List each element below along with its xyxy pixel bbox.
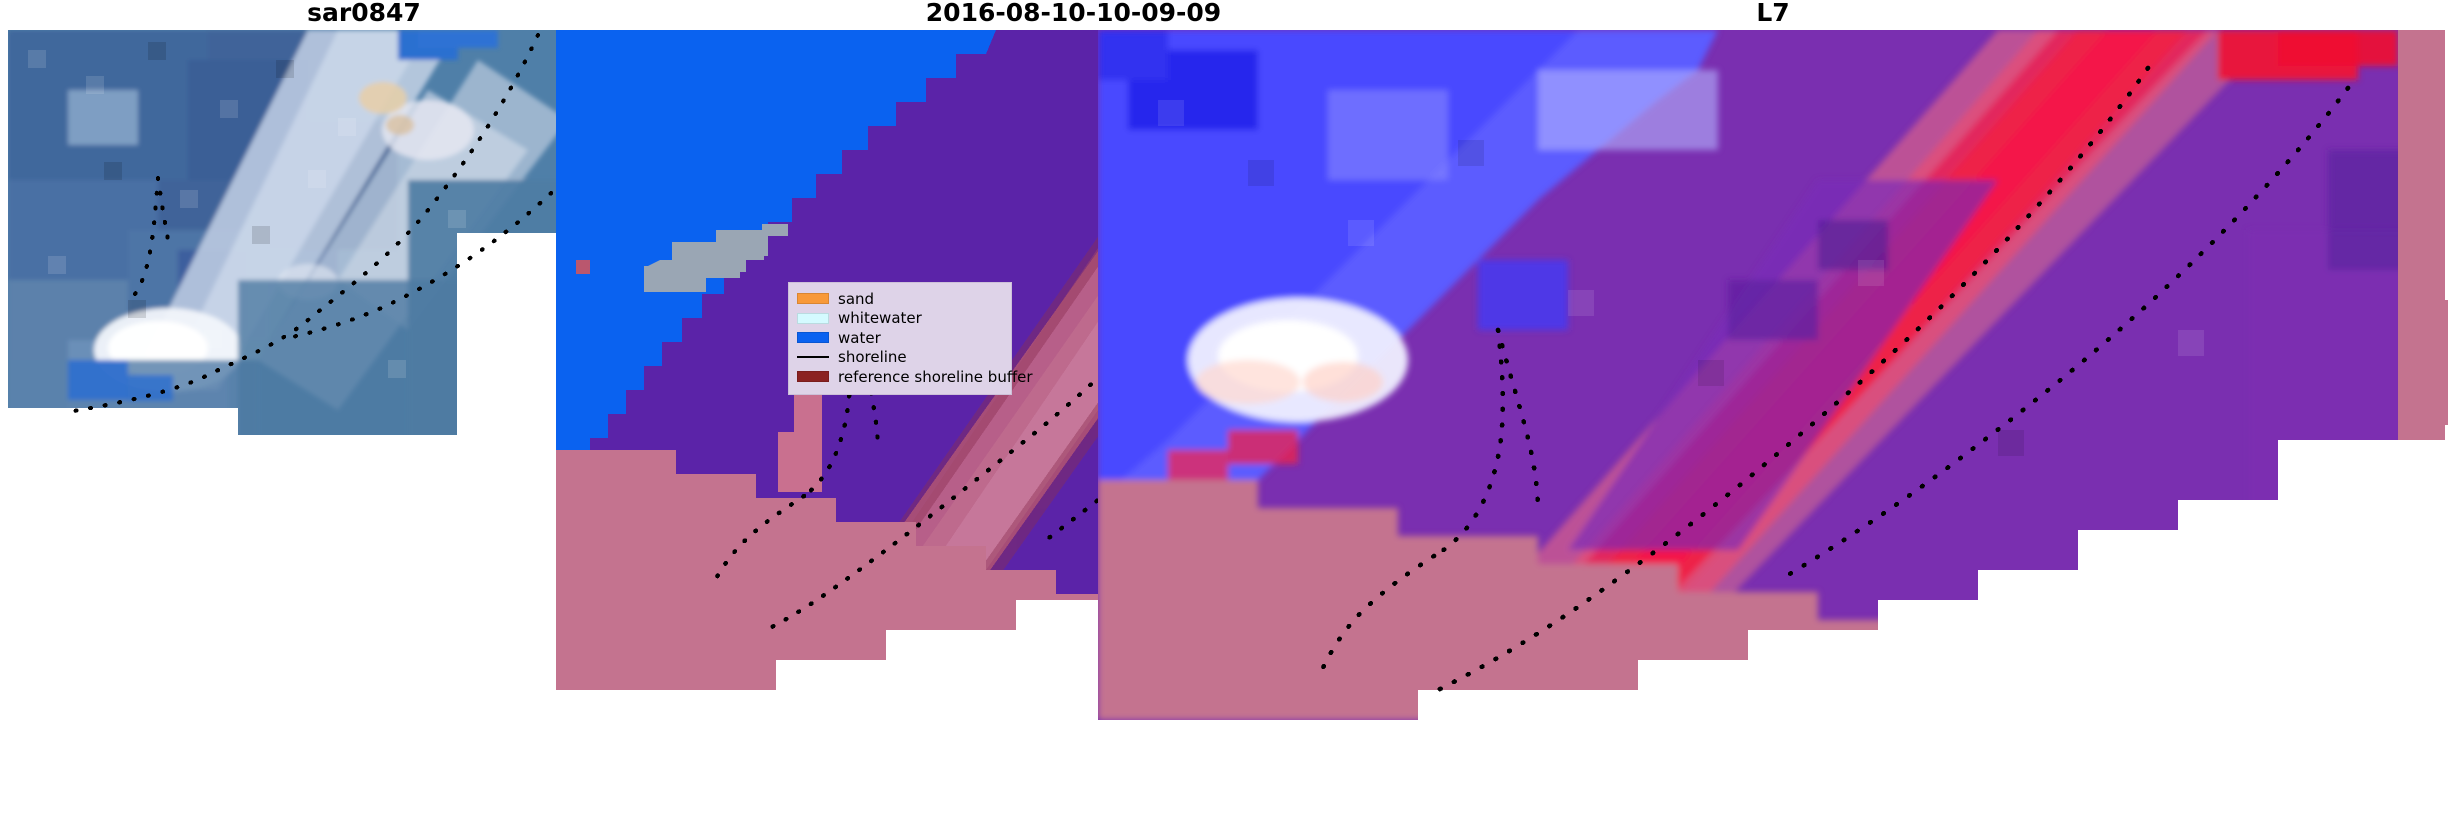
legend-label-water: water — [838, 329, 881, 347]
panel-index-title: L7 — [1098, 0, 2448, 30]
legend-label-shoreline: shoreline — [838, 348, 907, 366]
reference-buffer-swatch — [797, 371, 829, 382]
index-raster — [1098, 30, 2448, 835]
legend-item-shoreline: shoreline — [797, 348, 1003, 368]
sand-swatch — [797, 293, 829, 304]
shoreline-line-swatch — [797, 356, 829, 358]
figure-canvas: sar0847 — [0, 0, 2460, 835]
legend-label-whitewater: whitewater — [838, 309, 922, 327]
legend-item-sand: sand — [797, 289, 1003, 309]
panel-index: L7 — [1098, 0, 2448, 835]
water-swatch — [797, 332, 829, 343]
legend-item-whitewater: whitewater — [797, 309, 1003, 329]
legend-item-reference-buffer: reference shoreline buffer — [797, 367, 1003, 387]
panel-index-axes[interactable] — [1098, 30, 2448, 835]
legend-label-sand: sand — [838, 290, 874, 308]
classification-legend: sand whitewater water shoreline referenc… — [788, 282, 1012, 395]
legend-item-water: water — [797, 328, 1003, 348]
whitewater-swatch — [797, 313, 829, 324]
legend-label-reference-buffer: reference shoreline buffer — [838, 368, 1033, 386]
